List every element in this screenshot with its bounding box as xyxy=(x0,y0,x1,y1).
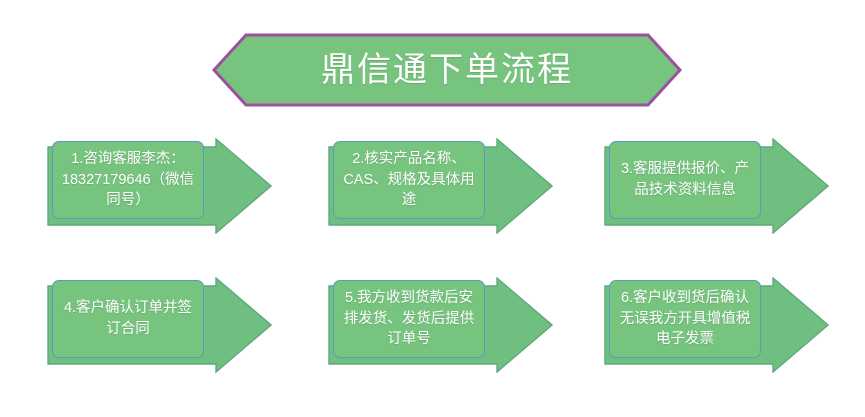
flow-step-1[interactable]: 1.咨询客服李杰：18327179646（微信同号） xyxy=(47,138,272,234)
flow-step-2[interactable]: 2.核实产品名称、CAS、规格及具体用途 xyxy=(328,138,553,234)
flow-step-3[interactable]: 3.客服提供报价、产品技术资料信息 xyxy=(604,138,829,234)
flowchart-canvas: 鼎信通下单流程 1.咨询客服李杰：18327179646（微信同号） 2.核实产… xyxy=(0,0,865,417)
flow-step-6-label: 6.客户收到货后确认无误我方开具增值税电子发票 xyxy=(609,280,761,358)
flow-step-3-label: 3.客服提供报价、产品技术资料信息 xyxy=(609,141,761,219)
flow-step-5[interactable]: 5.我方收到货款后安排发货、发货后提供订单号 xyxy=(328,277,553,373)
flow-step-4[interactable]: 4.客户确认订单并签订合同 xyxy=(47,277,272,373)
flowchart-title-banner: 鼎信通下单流程 xyxy=(212,33,682,107)
flow-step-4-label: 4.客户确认订单并签订合同 xyxy=(52,280,204,358)
flow-step-1-label: 1.咨询客服李杰：18327179646（微信同号） xyxy=(52,141,204,219)
page-title: 鼎信通下单流程 xyxy=(212,33,682,107)
flow-step-6[interactable]: 6.客户收到货后确认无误我方开具增值税电子发票 xyxy=(604,277,829,373)
flow-step-5-label: 5.我方收到货款后安排发货、发货后提供订单号 xyxy=(333,280,485,358)
flow-step-2-label: 2.核实产品名称、CAS、规格及具体用途 xyxy=(333,141,485,219)
